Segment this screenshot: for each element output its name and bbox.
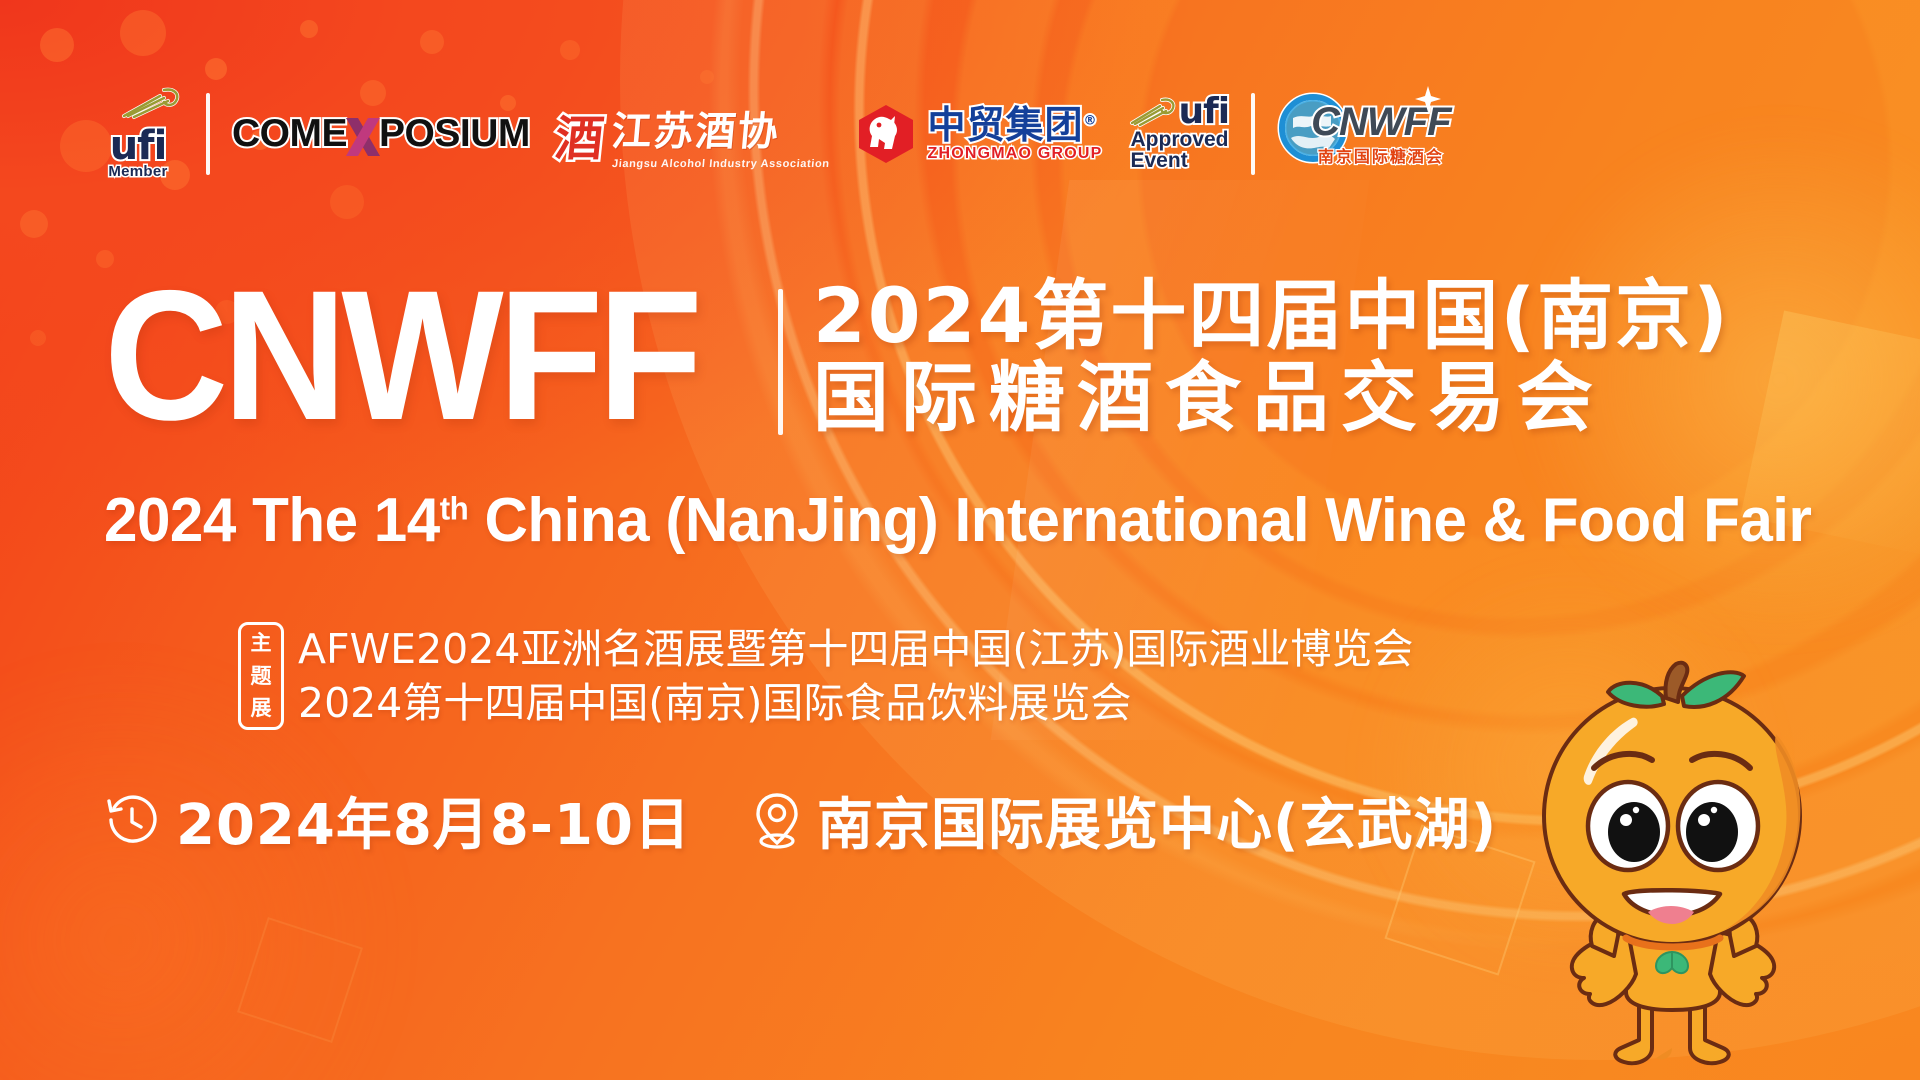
- theme-line-1: AFWE2024亚洲名酒展暨第十四届中国(江苏)国际酒业博览会: [298, 622, 1413, 676]
- page-title-acronym: CNWFF: [104, 275, 697, 438]
- event-date: 2024年8月8-10日: [176, 780, 691, 861]
- partner-logo-strip: ufi Member COME POSIUM 酒 江苏酒协 Jiangsu Al…: [92, 88, 1451, 180]
- comexposium-part2: POSIUM: [379, 112, 530, 156]
- ufi-member-label: Member: [108, 163, 167, 180]
- comexposium-x-icon: [343, 115, 383, 159]
- logo-zhongmao-group[interactable]: 中贸集团® ZHONGMAO GROUP: [855, 88, 1102, 180]
- jiangsu-seal-char: 酒: [552, 99, 607, 169]
- theme-tag-char-2: 题: [251, 664, 272, 689]
- main-title-block: CNWFF 2024第十四届中国(南京) 国际糖酒食品交易会: [104, 275, 1730, 439]
- zhongmao-horse-icon: [855, 103, 917, 165]
- orange-fruit-mascot: [1476, 656, 1896, 1080]
- ufi-wordmark: ufi: [110, 127, 167, 165]
- ufi-approved-wordmark: ufi: [1179, 96, 1230, 128]
- zhongmao-cn-name: 中贸集团®: [927, 106, 1102, 144]
- logo-divider-1: [206, 93, 210, 175]
- cn-title-line2: 国际糖酒食品交易会: [813, 357, 1730, 439]
- ufi-approved-line3: Event: [1131, 150, 1188, 171]
- logo-ufi-approved-event[interactable]: ufi Approved Event: [1129, 88, 1230, 180]
- zhongmao-en-name: ZHONGMAO GROUP: [927, 146, 1102, 162]
- event-info-row: 2024年8月8-10日 南京国际展览中心(玄武湖): [104, 780, 1497, 861]
- jiangsu-en-name: Jiangsu Alcohol Industry Association: [611, 158, 830, 170]
- ufi-approved-line2: Approved: [1131, 129, 1229, 150]
- comexposium-part1: COME: [232, 112, 347, 156]
- logo-comexposium[interactable]: COME POSIUM: [232, 88, 530, 180]
- en-title-pre: 2024 The 14: [104, 486, 440, 555]
- page-title-chinese: 2024第十四届中国(南京) 国际糖酒食品交易会: [813, 275, 1730, 439]
- ufi-swoosh-icon: [120, 86, 182, 120]
- outline-square-3: [237, 917, 363, 1043]
- ufi-swoosh-icon: [1129, 97, 1177, 127]
- logo-ufi-member[interactable]: ufi Member: [92, 88, 184, 180]
- theme-tag-char-3: 展: [251, 696, 272, 721]
- en-title-post: China (NanJing) International Wine & Foo…: [468, 486, 1811, 555]
- sparkle-icon: [1415, 86, 1441, 112]
- logo-jiangsu-association[interactable]: 酒 江苏酒协 Jiangsu Alcohol Industry Associat…: [556, 88, 830, 180]
- location-pin-icon: [751, 791, 803, 851]
- theme-line-2: 2024第十四届中国(南京)国际食品饮料展览会: [298, 676, 1413, 730]
- event-promo-banner: ufi Member COME POSIUM 酒 江苏酒协 Jiangsu Al…: [0, 0, 1920, 1080]
- title-separator: [778, 289, 783, 435]
- logo-divider-2: [1251, 93, 1255, 175]
- theme-exhibitions: 主 题 展 AFWE2024亚洲名酒展暨第十四届中国(江苏)国际酒业博览会 20…: [238, 622, 1413, 730]
- theme-tag-char-1: 主: [251, 631, 272, 656]
- theme-line-list: AFWE2024亚洲名酒展暨第十四届中国(江苏)国际酒业博览会 2024第十四届…: [298, 622, 1413, 730]
- registered-mark: ®: [1083, 113, 1097, 128]
- theme-tag-badge: 主 题 展: [238, 622, 284, 730]
- event-venue: 南京国际展览中心(玄武湖): [817, 780, 1497, 861]
- clock-icon: [104, 793, 160, 849]
- jiangsu-cn-name: 江苏酒协: [609, 99, 832, 157]
- logo-cnwff[interactable]: CNWFF 南京国际糖酒会: [1277, 88, 1450, 180]
- page-title-english: 2024 The 14th China (NanJing) Internatio…: [104, 485, 1811, 556]
- cnwff-cn-name: 南京国际糖酒会: [1311, 143, 1450, 167]
- cn-title-line1: 2024第十四届中国(南京): [813, 275, 1730, 357]
- en-title-ordinal: th: [440, 490, 469, 526]
